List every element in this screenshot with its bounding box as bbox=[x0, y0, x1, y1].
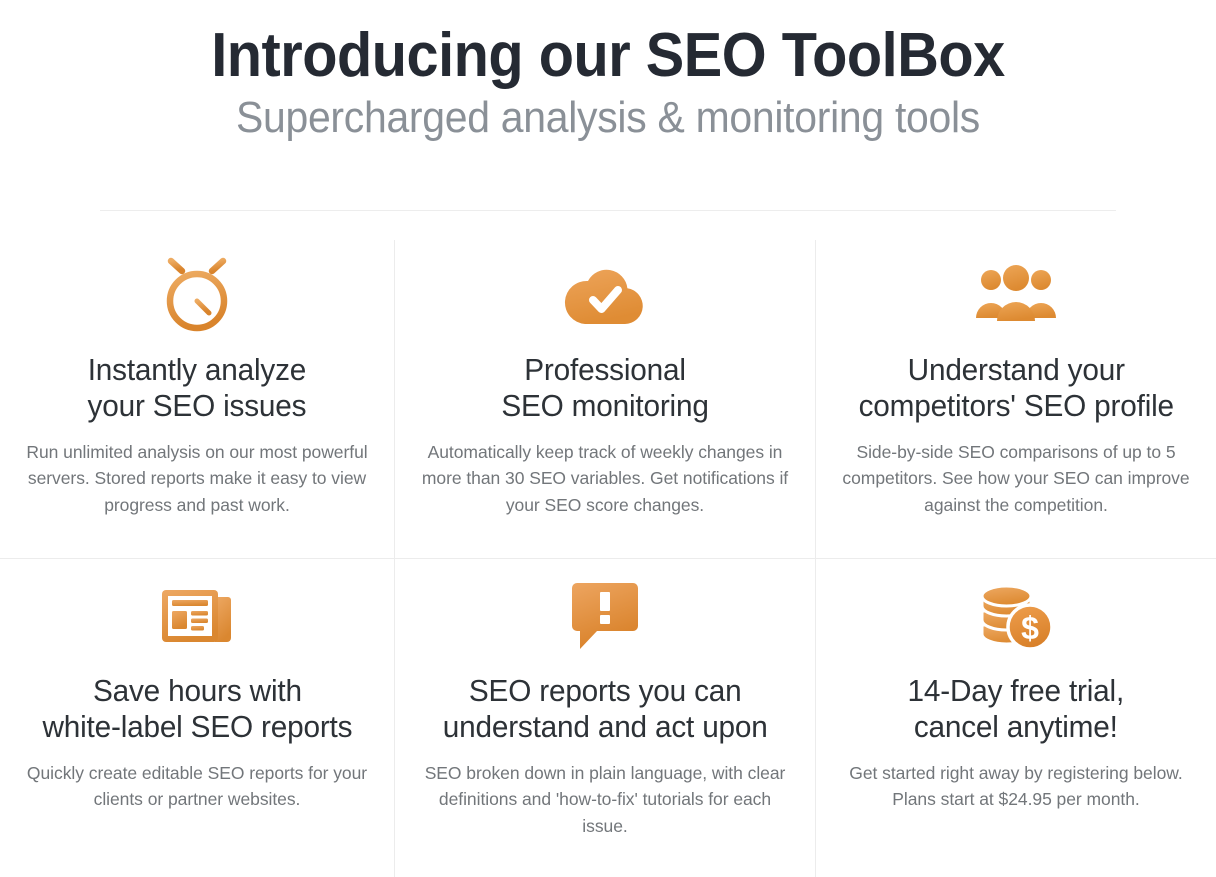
page-header: Introducing our SEO ToolBox Supercharged… bbox=[0, 0, 1216, 142]
feature-title-line-1: Save hours with bbox=[42, 673, 352, 709]
alarm-clock-icon bbox=[156, 252, 238, 338]
speech-bubble-alert-icon bbox=[569, 573, 641, 659]
feature-card-body: Automatically keep track of weekly chang… bbox=[418, 439, 792, 519]
newspaper-icon bbox=[158, 573, 236, 659]
feature-title-line-2: competitors' SEO profile bbox=[858, 388, 1173, 424]
feature-card-title: Instantly analyze your SEO issues bbox=[88, 352, 307, 425]
seo-toolbox-landing-page: Introducing our SEO ToolBox Supercharged… bbox=[0, 0, 1216, 877]
feature-card-title: SEO reports you can understand and act u… bbox=[443, 673, 768, 746]
feature-grid: Instantly analyze your SEO issues Run un… bbox=[0, 240, 1216, 877]
feature-title-line-2: white-label SEO reports bbox=[42, 709, 352, 745]
feature-title-line-1: Instantly analyze bbox=[88, 352, 307, 388]
page-title: Introducing our SEO ToolBox bbox=[43, 24, 1174, 88]
people-group-icon bbox=[974, 252, 1058, 338]
feature-title-line-2: cancel anytime! bbox=[908, 709, 1125, 745]
feature-card-title: Understand your competitors' SEO profile bbox=[858, 352, 1173, 425]
feature-card-white-label-reports: Save hours with white-label SEO reports … bbox=[0, 558, 394, 877]
feature-card-title: 14-Day free trial, cancel anytime! bbox=[908, 673, 1125, 746]
feature-card-body: Quickly create editable SEO reports for … bbox=[17, 760, 377, 814]
feature-card-body: Side-by-side SEO comparisons of up to 5 … bbox=[839, 439, 1194, 519]
feature-title-line-1: 14-Day free trial, bbox=[908, 673, 1125, 709]
feature-card-competitors: Understand your competitors' SEO profile… bbox=[815, 240, 1216, 558]
cloud-check-icon bbox=[562, 252, 648, 338]
feature-card-free-trial: $ 14-Day free trial, cancel anytime! Get… bbox=[815, 558, 1216, 877]
feature-title-line-1: Professional bbox=[501, 352, 708, 388]
feature-title-line-2: understand and act upon bbox=[443, 709, 768, 745]
feature-card-title: Save hours with white-label SEO reports bbox=[42, 673, 352, 746]
feature-card-understandable-reports: SEO reports you can understand and act u… bbox=[394, 558, 815, 877]
header-divider bbox=[100, 210, 1116, 211]
feature-card-body: SEO broken down in plain language, with … bbox=[418, 760, 792, 840]
feature-card-title: Professional SEO monitoring bbox=[501, 352, 708, 425]
feature-card-instant-analysis: Instantly analyze your SEO issues Run un… bbox=[0, 240, 394, 558]
coin-stack-dollar-icon: $ bbox=[976, 573, 1056, 659]
feature-card-body: Run unlimited analysis on our most power… bbox=[17, 439, 377, 519]
feature-title-line-1: Understand your bbox=[858, 352, 1173, 388]
page-subtitle: Supercharged analysis & monitoring tools bbox=[43, 94, 1174, 142]
feature-card-seo-monitoring: Professional SEO monitoring Automaticall… bbox=[394, 240, 815, 558]
feature-title-line-2: SEO monitoring bbox=[501, 388, 708, 424]
svg-text:$: $ bbox=[1021, 610, 1039, 646]
feature-title-line-1: SEO reports you can bbox=[443, 673, 768, 709]
feature-card-body: Get started right away by registering be… bbox=[839, 760, 1194, 814]
feature-title-line-2: your SEO issues bbox=[88, 388, 307, 424]
